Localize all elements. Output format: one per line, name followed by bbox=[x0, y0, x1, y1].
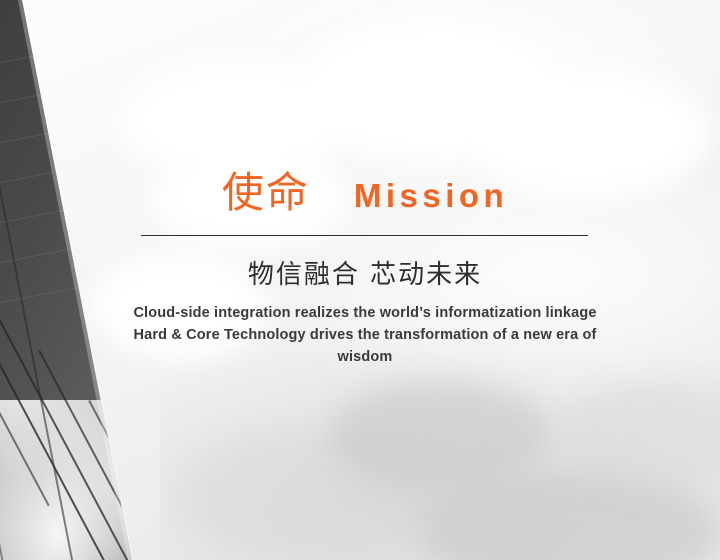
mission-description-line-1: Cloud-side integration realizes the worl… bbox=[106, 302, 624, 324]
mission-description-line-2: Hard & Core Technology drives the transf… bbox=[106, 324, 624, 368]
mission-text-block: 使命 Mission 物信融合 芯动未来 Cloud-side integrat… bbox=[141, 0, 589, 560]
mission-banner: 使命 Mission 物信融合 芯动未来 Cloud-side integrat… bbox=[0, 0, 720, 560]
heading-divider bbox=[141, 235, 588, 236]
mission-subtitle-chinese: 物信融合 芯动未来 bbox=[141, 258, 589, 293]
mission-description: Cloud-side integration realizes the worl… bbox=[106, 302, 624, 368]
mission-heading-english: Mission bbox=[354, 179, 508, 212]
mission-heading-chinese: 使命 bbox=[222, 172, 310, 214]
mission-heading: 使命 Mission bbox=[141, 172, 589, 214]
